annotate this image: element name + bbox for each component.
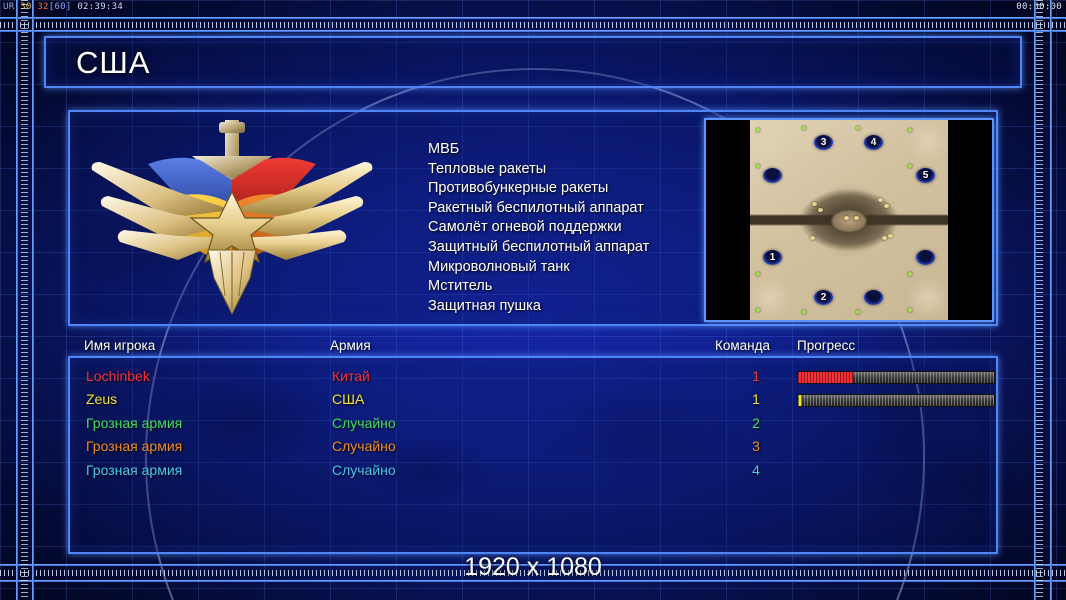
hud-clock: 02:39:34 bbox=[77, 2, 123, 12]
player-name: Zeus bbox=[86, 391, 117, 407]
supply-marker bbox=[802, 310, 806, 314]
unit-item: Микроволновый танк bbox=[428, 258, 649, 278]
supply-marker bbox=[802, 126, 806, 130]
start-position-marker: 3 bbox=[814, 135, 833, 150]
supply-marker bbox=[856, 310, 860, 314]
player-army: США bbox=[332, 391, 364, 407]
player-team: 1 bbox=[746, 368, 766, 384]
player-row[interactable]: Грозная армияСлучайно3 bbox=[70, 438, 1000, 461]
oil-marker bbox=[812, 202, 817, 206]
right-ruler-strip bbox=[1036, 0, 1049, 600]
oil-marker bbox=[882, 236, 887, 240]
minimap[interactable]: 34512 bbox=[704, 118, 994, 322]
unit-item: Ракетный беспилотный аппарат bbox=[428, 199, 649, 219]
unit-list: МВБ Тепловые ракеты Противобункерные рак… bbox=[428, 140, 649, 316]
supply-marker bbox=[756, 128, 760, 132]
oil-marker bbox=[878, 198, 883, 202]
left-ruler-strip bbox=[18, 0, 31, 600]
player-row[interactable]: ZeusСША1 bbox=[70, 391, 1000, 414]
faction-info-panel: МВБ Тепловые ракеты Противобункерные рак… bbox=[68, 110, 998, 326]
oil-marker bbox=[844, 216, 849, 220]
right-ruler-line-outer bbox=[1050, 0, 1052, 600]
hud-value-2: 32 bbox=[37, 2, 48, 12]
unit-item: Самолёт огневой поддержки bbox=[428, 218, 649, 238]
oil-marker bbox=[810, 236, 815, 240]
header-player-name: Имя игрока bbox=[84, 338, 155, 353]
supply-marker bbox=[856, 126, 860, 130]
oil-marker bbox=[884, 204, 889, 208]
player-army: Случайно bbox=[332, 462, 396, 478]
player-progress-fill bbox=[798, 395, 802, 406]
supply-marker bbox=[908, 128, 912, 132]
player-army: Случайно bbox=[332, 415, 396, 431]
player-name: Грозная армия bbox=[86, 462, 182, 478]
unit-item: МВБ bbox=[428, 140, 649, 160]
hud-value-3: [60] bbox=[49, 2, 72, 12]
unit-item: Тепловые ракеты bbox=[428, 160, 649, 180]
oil-marker bbox=[854, 216, 859, 220]
player-progress-bar bbox=[797, 371, 995, 384]
header-army: Армия bbox=[330, 338, 371, 353]
start-position-marker bbox=[864, 290, 883, 305]
player-army: Китай bbox=[332, 368, 370, 384]
start-position-marker: 1 bbox=[763, 250, 782, 265]
start-position-marker: 4 bbox=[864, 135, 883, 150]
resolution-label: 1920 x 1080 bbox=[0, 553, 1066, 582]
player-row[interactable]: Грозная армияСлучайно4 bbox=[70, 462, 1000, 485]
minimap-terrain: 34512 bbox=[750, 120, 948, 320]
player-team: 1 bbox=[746, 391, 766, 407]
right-ruler-line-inner bbox=[1034, 0, 1036, 600]
header-team: Команда bbox=[715, 338, 770, 353]
player-team: 3 bbox=[746, 438, 766, 454]
start-position-marker bbox=[763, 168, 782, 183]
top-ruler-line-lower bbox=[0, 30, 1066, 32]
unit-item: Защитный беспилотный аппарат bbox=[428, 238, 649, 258]
faction-emblem bbox=[82, 118, 382, 318]
supply-marker bbox=[756, 272, 760, 276]
unit-item: Мститель bbox=[428, 277, 649, 297]
supply-marker bbox=[908, 164, 912, 168]
unit-item: Противобункерные ракеты bbox=[428, 179, 649, 199]
player-row[interactable]: Грозная армияСлучайно2 bbox=[70, 415, 1000, 438]
player-name: Lochinbek bbox=[86, 368, 150, 384]
supply-marker bbox=[756, 308, 760, 312]
player-army: Случайно bbox=[332, 438, 396, 454]
left-ruler-line-inner bbox=[32, 0, 34, 600]
supply-marker bbox=[756, 164, 760, 168]
player-team: 4 bbox=[746, 462, 766, 478]
player-name: Грозная армия bbox=[86, 438, 182, 454]
supply-marker bbox=[908, 272, 912, 276]
player-roster-panel: LochinbekКитай1ZeusСША1Грозная армияСлуч… bbox=[68, 356, 998, 554]
game-lobby-screen: UR 30 32[60] 02:39:34 00:00:00 США bbox=[0, 0, 1066, 600]
start-position-marker bbox=[916, 250, 935, 265]
hud-prefix: UR bbox=[3, 2, 14, 12]
supply-marker bbox=[908, 308, 912, 312]
start-position-marker: 5 bbox=[916, 168, 935, 183]
start-position-marker: 2 bbox=[814, 290, 833, 305]
oil-marker bbox=[818, 208, 823, 212]
page-title: США bbox=[76, 45, 150, 81]
top-ruler-line-upper bbox=[0, 17, 1066, 19]
usa-eagle-emblem-icon bbox=[82, 118, 382, 318]
player-progress-bar bbox=[797, 394, 995, 407]
unit-item: Защитная пушка bbox=[428, 297, 649, 317]
header-progress: Прогресс bbox=[797, 338, 855, 353]
oil-marker bbox=[888, 234, 893, 238]
player-row[interactable]: LochinbekКитай1 bbox=[70, 368, 1000, 391]
roster-header-row: Имя игрока Армия Команда Прогресс bbox=[70, 338, 1000, 358]
left-ruler-line-outer bbox=[16, 0, 18, 600]
player-team: 2 bbox=[746, 415, 766, 431]
player-name: Грозная армия bbox=[86, 415, 182, 431]
title-panel: США bbox=[44, 36, 1022, 88]
player-progress-fill bbox=[798, 372, 853, 383]
